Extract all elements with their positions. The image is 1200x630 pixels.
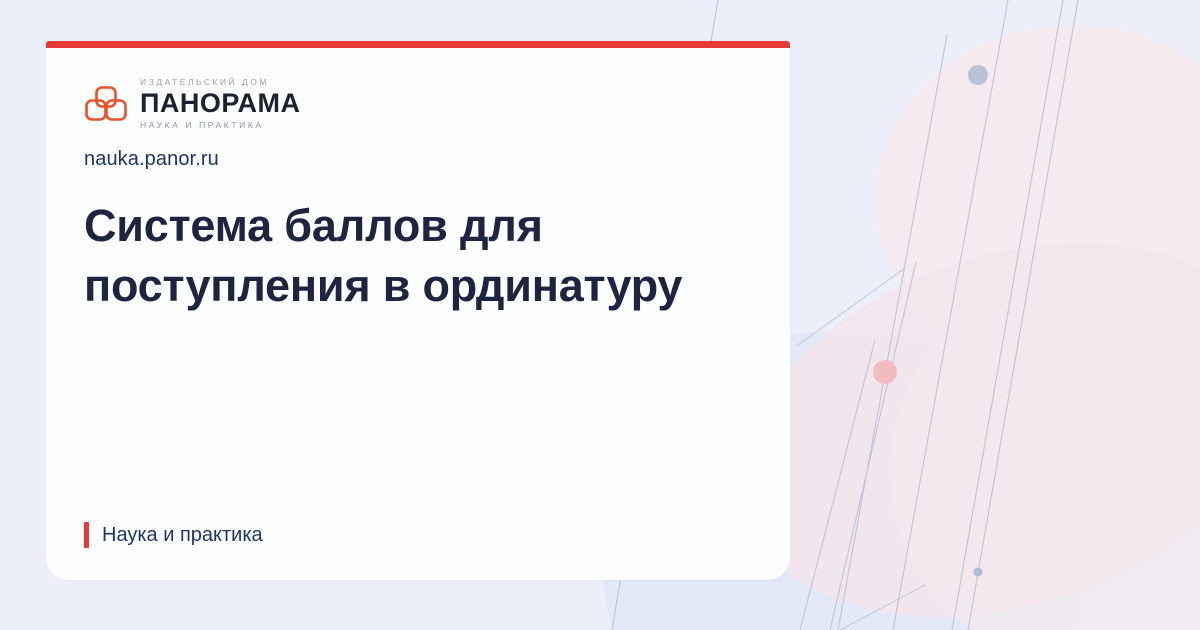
publisher-logo[interactable]: ИЗДАТЕЛЬСКИЙ ДОМ ПАНОРАМА НАУКА И ПРАКТИ…: [84, 78, 301, 129]
three-overlapping-rounded-squares-icon: [84, 85, 128, 123]
category-accent-bar: [84, 522, 89, 548]
category-label: Наука и практика: [102, 524, 263, 547]
article-headline: Система баллов для поступления в ординат…: [84, 196, 774, 316]
card-accent-bar: [46, 41, 790, 48]
logo-name: ПАНОРАМА: [140, 90, 301, 117]
decor-dot-gray: [968, 65, 988, 85]
decor-dot-pink: [873, 360, 897, 384]
logo-kicker: ИЗДАТЕЛЬСКИЙ ДОМ: [140, 78, 301, 87]
footer-category[interactable]: Наука и практика: [84, 522, 263, 548]
site-url-link[interactable]: nauka.panor.ru: [84, 148, 219, 171]
logo-wordmark: ИЗДАТЕЛЬСКИЙ ДОМ ПАНОРАМА НАУКА И ПРАКТИ…: [140, 78, 301, 129]
content-card: ИЗДАТЕЛЬСКИЙ ДОМ ПАНОРАМА НАУКА И ПРАКТИ…: [46, 41, 790, 580]
decor-dot-gray-small: [974, 568, 983, 577]
og-image-canvas: ИЗДАТЕЛЬСКИЙ ДОМ ПАНОРАМА НАУКА И ПРАКТИ…: [0, 0, 1200, 630]
logo-subtitle: НАУКА И ПРАКТИКА: [140, 121, 301, 130]
